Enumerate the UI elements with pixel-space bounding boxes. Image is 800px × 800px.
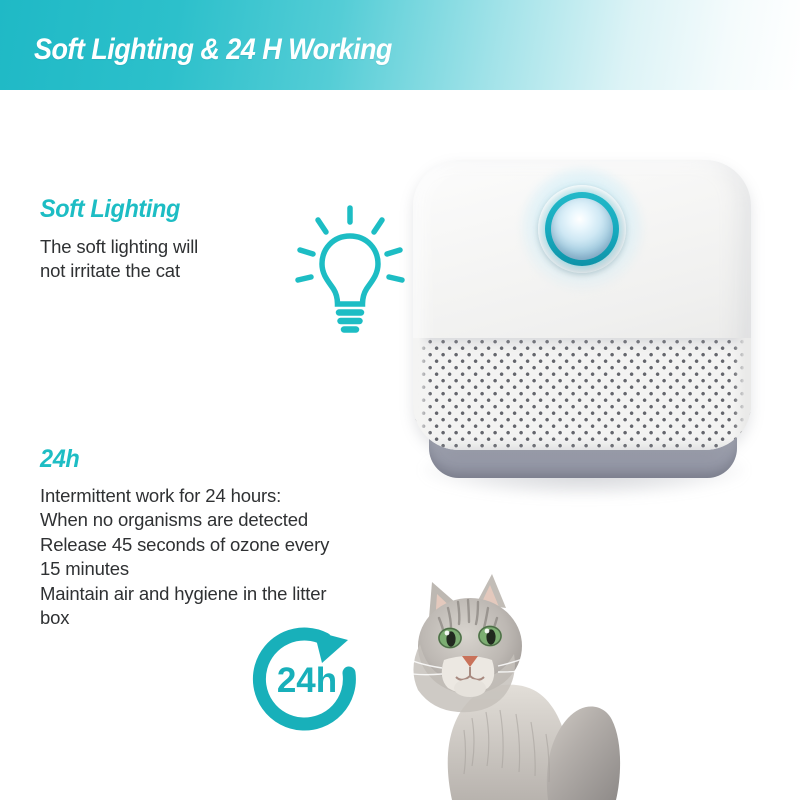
- 24h-icon-label: 24h: [277, 661, 337, 700]
- vent-edge-left: [413, 338, 431, 450]
- product-device: [405, 160, 760, 510]
- page-title: Soft Lighting & 24 H Working: [34, 33, 392, 67]
- lightbulb-icon: [294, 194, 406, 342]
- power-button[interactable]: [538, 185, 626, 273]
- header-banner: Soft Lighting & 24 H Working: [0, 0, 800, 90]
- device-body: [413, 160, 751, 450]
- cat-photo: [398, 568, 728, 800]
- vent-edge-right: [733, 338, 751, 450]
- twentyfour-description: Intermittent work for 24 hours: When no …: [40, 474, 420, 632]
- feature-soft-lighting: Soft Lighting The soft lighting will not…: [40, 196, 385, 284]
- device-vent-panel: [413, 338, 751, 450]
- indicator-ring: [545, 192, 619, 266]
- indicator-dome: [551, 198, 613, 260]
- 24h-cycle-icon: 24h: [248, 618, 368, 738]
- feature-24h: 24h Intermittent work for 24 hours: When…: [40, 446, 420, 631]
- twentyfour-heading: 24h: [40, 446, 397, 474]
